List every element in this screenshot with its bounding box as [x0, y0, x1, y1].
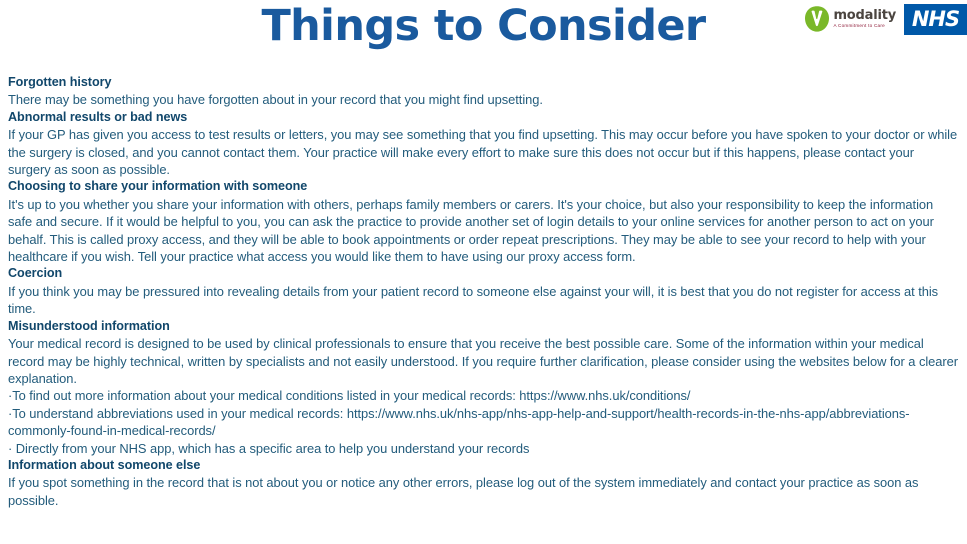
section-coercion: Coercion If you think you may be pressur… — [8, 265, 959, 317]
section-heading: Choosing to share your information with … — [8, 178, 959, 195]
list-item: ·To understand abbreviations used in you… — [8, 405, 959, 440]
section-abnormal-results: Abnormal results or bad news If your GP … — [8, 109, 959, 179]
nhs-logo: NHS — [904, 4, 967, 35]
resource-link-list: ·To find out more information about your… — [8, 387, 959, 457]
nhs-logo-text: NHS — [912, 9, 959, 30]
logo-group: modality A Commitment to Care NHS — [804, 2, 967, 36]
section-choosing-to-share: Choosing to share your information with … — [8, 178, 959, 265]
modality-name: modality — [833, 9, 896, 22]
document-body: Forgotten history There may be something… — [8, 74, 959, 509]
modality-leaf-icon — [804, 5, 830, 33]
list-item: ·To find out more information about your… — [8, 387, 959, 404]
section-heading: Misunderstood information — [8, 318, 959, 335]
section-heading: Coercion — [8, 265, 959, 282]
modality-wordmark: modality A Commitment to Care — [833, 9, 896, 29]
section-forgotten-history: Forgotten history There may be something… — [8, 74, 959, 109]
modality-tagline: A Commitment to Care — [833, 24, 896, 29]
section-heading: Information about someone else — [8, 457, 959, 474]
section-text: If you think you may be pressured into r… — [8, 283, 959, 318]
section-text: There may be something you have forgotte… — [8, 91, 959, 108]
section-heading: Abnormal results or bad news — [8, 109, 959, 126]
section-misunderstood-information: Misunderstood information Your medical r… — [8, 318, 959, 388]
list-item: · Directly from your NHS app, which has … — [8, 440, 959, 457]
modality-logo: modality A Commitment to Care — [804, 3, 904, 35]
section-text: Your medical record is designed to be us… — [8, 335, 959, 387]
section-heading: Forgotten history — [8, 74, 959, 91]
slide-header: Things to Consider modality A Commitment… — [0, 0, 967, 66]
section-information-about-someone-else: Information about someone else If you sp… — [8, 457, 959, 509]
section-text: It's up to you whether you share your in… — [8, 196, 959, 266]
section-text: If you spot something in the record that… — [8, 474, 959, 509]
slide-page: Things to Consider modality A Commitment… — [0, 0, 967, 544]
section-text: If your GP has given you access to test … — [8, 126, 959, 178]
